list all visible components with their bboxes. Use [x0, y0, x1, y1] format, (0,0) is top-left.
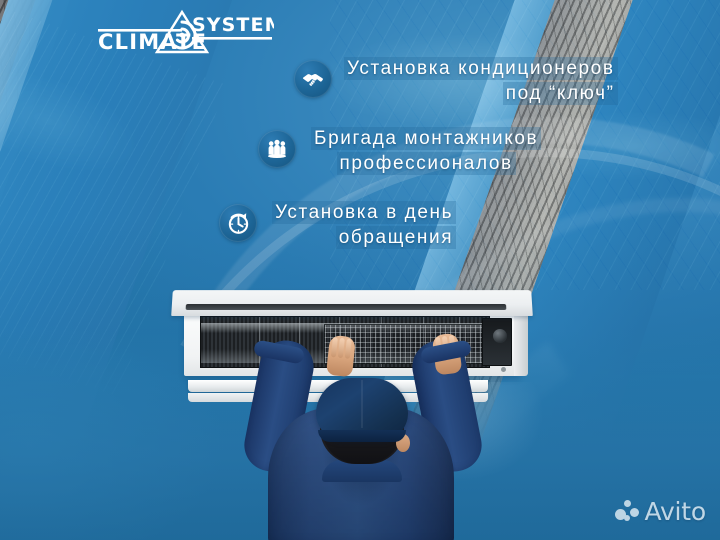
feature-text: Установка в день обращения	[272, 200, 456, 250]
feature-text: Установка кондиционеров под “ключ”	[344, 56, 618, 106]
feature-list: Установка кондиционеров под “ключ” Брига…	[0, 46, 720, 262]
feature-text: Бригада монтажников профессионалов	[311, 126, 541, 176]
feature-line: обращения	[336, 226, 456, 249]
feature-item-turnkey-installation: Установка кондиционеров под “ключ”	[0, 46, 720, 118]
technician	[0, 282, 720, 540]
avito-wordmark: Avito	[645, 497, 706, 526]
installation-photo	[0, 282, 720, 540]
feature-line: под “ключ”	[503, 82, 618, 105]
logo-word-systems: SYSTEMS	[192, 14, 274, 36]
feature-line: профессионалов	[337, 152, 516, 175]
clock-arrow-icon	[219, 204, 257, 242]
advertisement-banner: CLIMATE SYSTEMS Установка кондиционеров …	[0, 0, 720, 540]
avito-watermark: Avito	[615, 496, 706, 526]
avito-dots-icon	[615, 500, 639, 522]
handshake-icon	[294, 60, 332, 98]
feature-line: Установка кондиционеров	[344, 57, 618, 80]
feature-item-same-day-installation: Установка в день обращения	[0, 190, 720, 262]
feature-line: Бригада монтажников	[311, 127, 541, 150]
technician-cap-band	[318, 430, 406, 442]
group-of-people-icon	[258, 130, 296, 168]
feature-item-professional-team: Бригада монтажников профессионалов	[0, 118, 720, 190]
technician-left-hand	[326, 335, 356, 377]
feature-line: Установка в день	[272, 201, 456, 224]
